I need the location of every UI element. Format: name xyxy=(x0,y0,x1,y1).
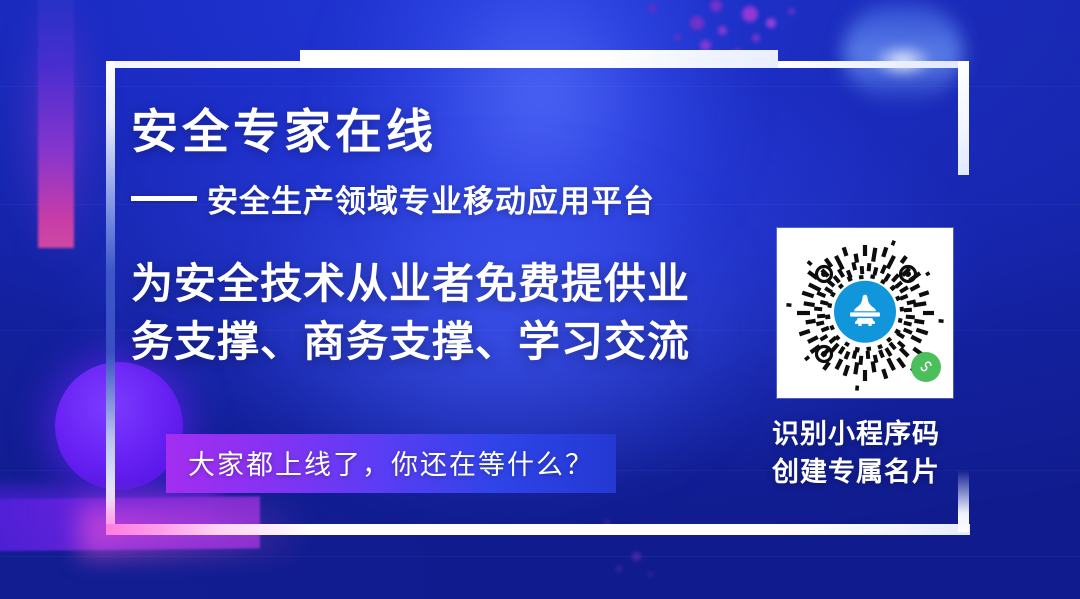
headline-line-1: 为安全技术从业者免费提供业 xyxy=(131,255,771,313)
poster-canvas: 安全专家在线 安全生产领域专业移动应用平台 为安全技术从业者免费提供业 务支撑、… xyxy=(0,0,1080,599)
headline-line-2: 务支撑、商务支撑、学习交流 xyxy=(131,313,771,371)
page-title: 安全专家在线 xyxy=(131,93,437,162)
subtitle-row: 安全生产领域专业移动应用平台 xyxy=(131,176,655,221)
page-subtitle: 安全生产领域专业移动应用平台 xyxy=(207,176,655,221)
qr-code[interactable] xyxy=(777,228,953,398)
safety-helmet-icon xyxy=(834,281,896,343)
qr-caption-line-1: 识别小程序码 xyxy=(772,415,972,453)
miniprogram-glyph xyxy=(916,357,936,377)
wechat-miniprogram-badge-icon xyxy=(911,352,941,382)
tagline-text: 大家都上线了，你还在等什么？ xyxy=(188,450,594,480)
headline: 为安全技术从业者免费提供业 务支撑、商务支撑、学习交流 xyxy=(131,255,771,371)
qr-caption-line-2: 创建专属名片 xyxy=(772,453,972,491)
em-dash-rule xyxy=(131,196,197,201)
qr-code-pattern xyxy=(777,228,953,398)
tagline-banner: 大家都上线了，你还在等什么？ xyxy=(166,434,616,493)
safety-helmet-glyph xyxy=(842,289,888,335)
poster-content: 安全专家在线 安全生产领域专业移动应用平台 为安全技术从业者免费提供业 务支撑、… xyxy=(0,0,1080,599)
qr-caption: 识别小程序码 创建专属名片 xyxy=(772,415,972,491)
